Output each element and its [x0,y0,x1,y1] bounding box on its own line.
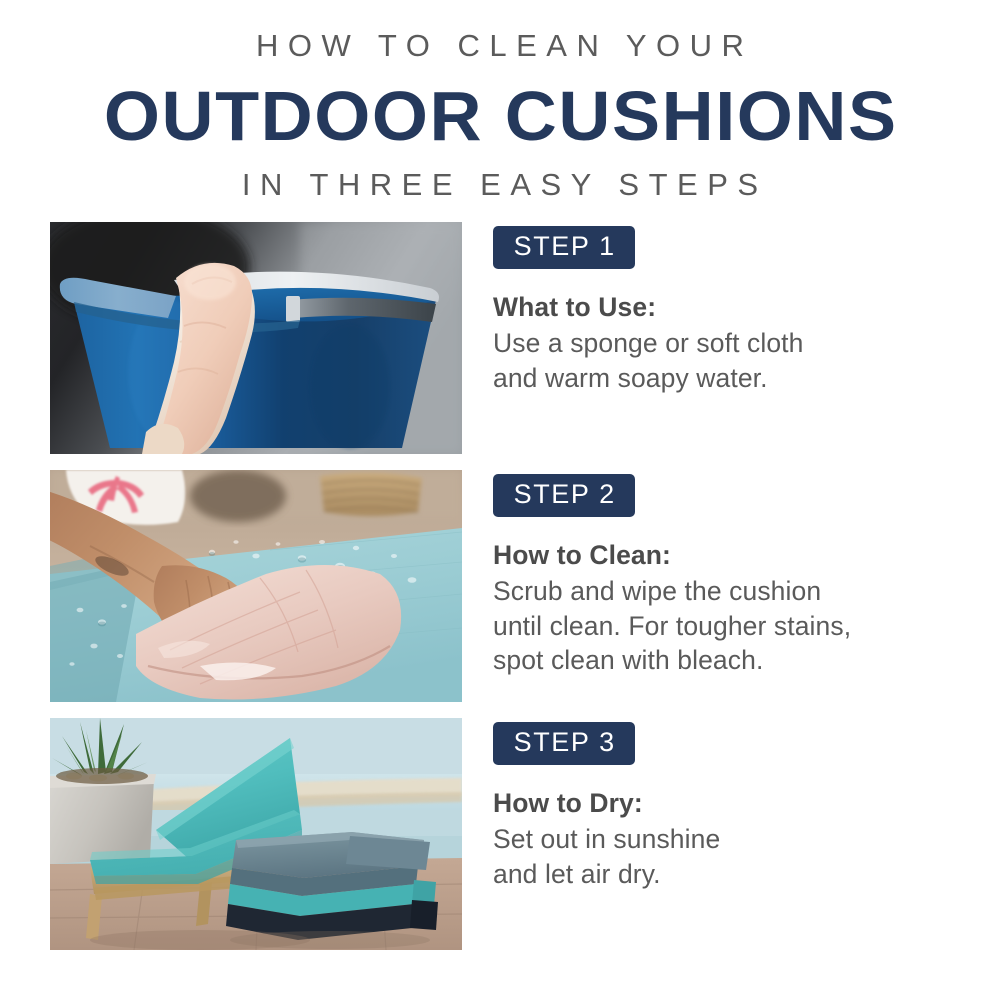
chaise-lounge-illustration [50,718,462,950]
step-1-body: Use a sponge or soft cloth and warm soap… [493,325,950,395]
step-2-body-line-3: spot clean with bleach. [493,643,950,677]
step-1-badge: STEP 1 [493,226,635,269]
step-row-3: STEP 3 How to Dry: Set out in sunshine a… [50,718,950,950]
step-1-photo [50,222,462,454]
step-2-body-line-1: Scrub and wipe the cushion [493,574,950,608]
step-3-body-line-1: Set out in sunshine [493,822,950,856]
step-1-body-line-1: Use a sponge or soft cloth [493,326,950,360]
header-subline: IN THREE EASY STEPS [0,152,1000,200]
header: HOW TO CLEAN YOUR OUTDOOR CUSHIONS IN TH… [0,0,1000,200]
header-kicker: HOW TO CLEAN YOUR [0,0,1000,61]
step-3-text: STEP 3 How to Dry: Set out in sunshine a… [462,718,950,891]
step-1-text: STEP 1 What to Use: Use a sponge or soft… [462,222,950,395]
step-2-body: Scrub and wipe the cushion until clean. … [493,573,950,677]
step-2-photo [50,470,462,702]
step-2-title: How to Clean: [493,517,950,573]
step-3-title: How to Dry: [493,765,950,821]
bucket-illustration [50,222,462,454]
page-title: OUTDOOR CUSHIONS [0,61,1000,152]
step-3-photo [50,718,462,950]
step-row-1: STEP 1 What to Use: Use a sponge or soft… [50,222,950,454]
step-2-text: STEP 2 How to Clean: Scrub and wipe the … [462,470,950,677]
step-2-body-line-2: until clean. For tougher stains, [493,609,950,643]
step-3-body: Set out in sunshine and let air dry. [493,821,950,891]
wiping-cushion-illustration [50,470,462,702]
step-3-badge: STEP 3 [493,722,635,765]
step-2-badge: STEP 2 [493,474,635,517]
step-row-2: STEP 2 How to Clean: Scrub and wipe the … [50,470,950,702]
step-1-body-line-2: and warm soapy water. [493,361,950,395]
step-1-title: What to Use: [493,269,950,325]
infographic-page: HOW TO CLEAN YOUR OUTDOOR CUSHIONS IN TH… [0,0,1000,1000]
step-3-body-line-2: and let air dry. [493,857,950,891]
